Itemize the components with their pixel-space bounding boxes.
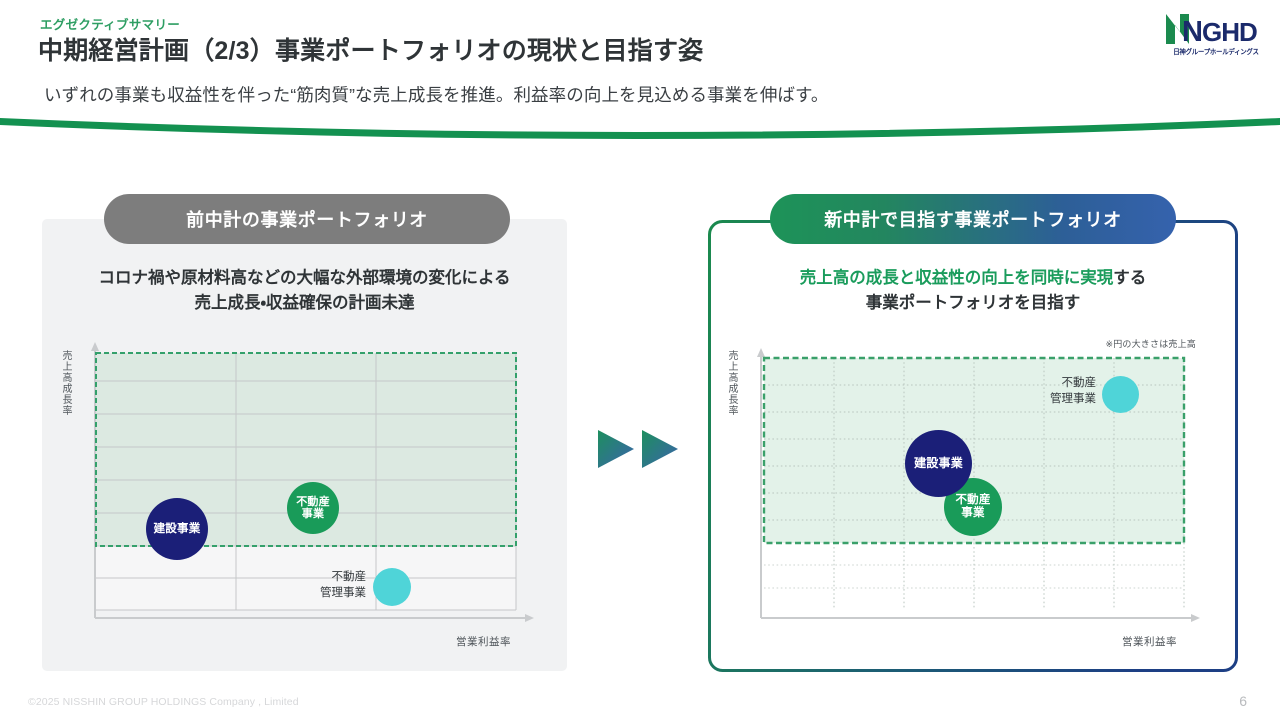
svg-text:N: N [1182,16,1203,46]
chart-previous-plan: 売上高成長率 [62,340,542,655]
page-subtitle: いずれの事業も収益性を伴った“筋肉質”な売上成長を推進。利益率の向上を見込める事… [44,82,829,107]
bubble-construction-label: 建設事業 [154,523,201,536]
transition-arrows-icon [596,428,682,470]
bubble-property-management-label: 不動産 管理事業 [1022,376,1096,407]
bubble-real-estate[interactable]: 不動産 事業 [287,482,339,534]
right-panel-heading-line1: 売上高の成長と収益性の向上を同時に実現する [708,266,1238,291]
right-panel-title-pill: 新中計で目指す事業ポートフォリオ [770,194,1176,244]
page-title: 中期経営計画（2/3）事業ポートフォリオの現状と目指す姿 [38,31,703,67]
bubble-real-estate-label: 不動産 事業 [955,494,990,520]
chart-left-x-axis-label: 営業利益率 [456,634,511,649]
logo-wordmark-icon: N GHD [1164,12,1268,46]
right-panel-heading-green: 売上高の成長と収益性の向上を同時に実現 [800,269,1114,287]
bubble-construction[interactable]: 建設事業 [146,498,208,560]
right-panel-heading-rest: する [1113,269,1146,287]
footer-page-number: 6 [1239,693,1247,709]
chart-new-plan: 売上高成長率 ※円の大きさは売上高 [728,340,1208,655]
chart-right-x-axis-label: 営業利益率 [1122,634,1177,649]
header-arc-divider [0,112,1280,146]
company-logo: N GHD 日神グループホールディングス [1164,12,1268,62]
left-panel-heading: コロナ禍や原材料高などの大幅な外部環境の変化による 売上成長・収益確保の計画未達 [42,266,567,316]
right-panel-heading: 売上高の成長と収益性の向上を同時に実現する 事業ポートフォリオを目指す [708,266,1238,316]
svg-text:GHD: GHD [1202,17,1257,46]
bubble-construction-label: 建設事業 [914,457,963,470]
left-panel-heading-line2: 売上成長・収益確保の計画未達 [42,291,567,316]
slide-root: エグゼクティブサマリー 中期経営計画（2/3）事業ポートフォリオの現状と目指す姿… [0,0,1280,720]
right-panel-heading-line2: 事業ポートフォリオを目指す [708,291,1238,316]
bubble-property-management[interactable] [373,568,411,606]
bubble-property-management[interactable] [1102,376,1139,413]
left-panel-heading-line1: コロナ禍や原材料高などの大幅な外部環境の変化による [42,266,567,291]
logo-company-name: 日神グループホールディングス [1168,47,1264,57]
bubble-property-management-label: 不動産 管理事業 [292,570,366,601]
footer-copyright: ©2025 NISSHIN GROUP HOLDINGS Company , L… [28,696,299,708]
bubble-real-estate-label: 不動産 事業 [296,496,330,521]
left-panel-title-pill: 前中計の事業ポートフォリオ [104,194,510,244]
bubble-construction[interactable]: 建設事業 [905,430,972,497]
